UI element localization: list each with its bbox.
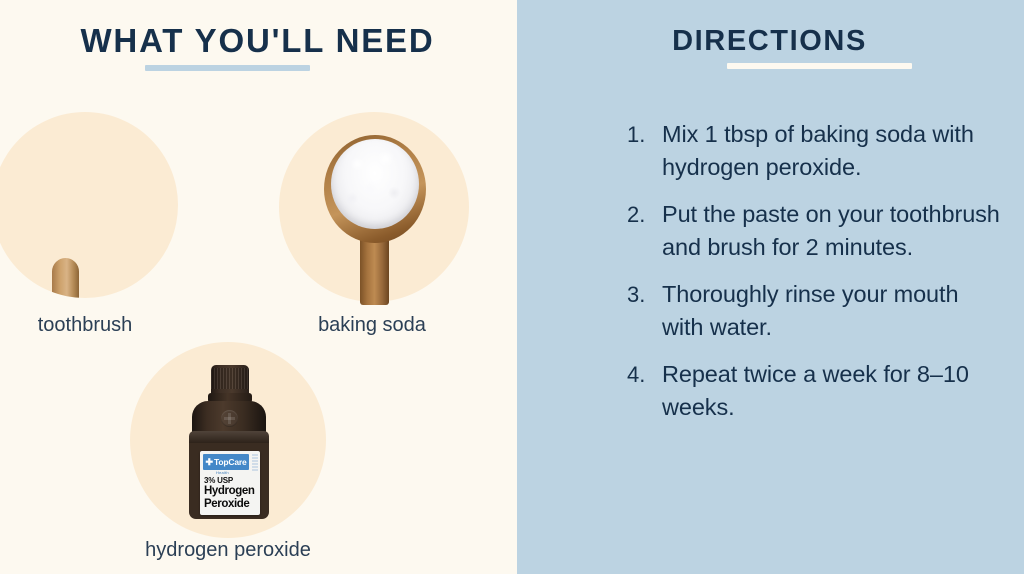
directions-list: 1. Mix 1 tbsp of baking soda with hydrog… [620,118,1000,438]
spoon-of-baking-soda-icon [324,135,426,305]
list-item: 1. Mix 1 tbsp of baking soda with hydrog… [620,118,1000,184]
bottle-cap [211,365,249,395]
directions-title: DIRECTIONS [515,21,1024,61]
bottle-shoulder [192,401,266,435]
list-item: 2. Put the paste on your toothbrush and … [620,198,1000,264]
brand-plus-icon: ✚ [206,458,214,467]
spoon-bowl [324,135,426,243]
panel-divider [515,0,517,574]
toothbrush-circle-backdrop [0,112,178,298]
peroxide-bottle-icon: ✚ TopCare Health 3% USP Hydrogen Peroxid… [183,365,275,520]
ingredients-panel: WHAT YOU'LL NEED toothbrush [0,0,515,574]
product-name-line1: Hydrogen [204,485,254,498]
list-item: 3. Thoroughly rinse your mouth with wate… [620,278,1000,344]
product-name: Hydrogen Peroxide [204,485,254,511]
ingredient-label-baking-soda: baking soda [286,313,458,337]
title-underline-right [727,63,912,69]
step-text: Thoroughly rinse your mouth with water. [662,278,1000,344]
title-underline-left [145,65,310,71]
infographic-page: WHAT YOU'LL NEED toothbrush [0,0,1024,574]
toothbrush-icon [45,252,85,298]
list-item: 4. Repeat twice a week for 8–10 weeks. [620,358,1000,424]
embossed-cross-icon [221,410,238,427]
step-number: 1. [620,118,662,184]
step-text: Put the paste on your toothbrush and bru… [662,198,1000,264]
ingredient-label-toothbrush: toothbrush [0,313,170,337]
product-strength: 3% USP [204,476,233,485]
step-text: Mix 1 tbsp of baking soda with hydrogen … [662,118,1000,184]
page-title: WHAT YOU'LL NEED [0,21,515,61]
brand-banner: ✚ TopCare [203,454,249,470]
toothbrush-head [52,258,79,298]
toothbrush-bristles [61,261,84,298]
step-text: Repeat twice a week for 8–10 weeks. [662,358,1000,424]
brand-subtitle: Health [216,470,229,475]
step-number: 4. [620,358,662,424]
label-side-stripe [252,454,258,472]
bottle-body-band [189,431,269,443]
step-number: 3. [620,278,662,344]
product-name-line2: Peroxide [204,498,254,511]
step-number: 2. [620,198,662,264]
bottle-front-label: ✚ TopCare Health 3% USP Hydrogen Peroxid… [200,451,260,515]
baking-soda-powder [331,139,419,229]
brand-name: TopCare [214,458,246,467]
ingredient-label-hydrogen-peroxide: hydrogen peroxide [120,538,336,562]
